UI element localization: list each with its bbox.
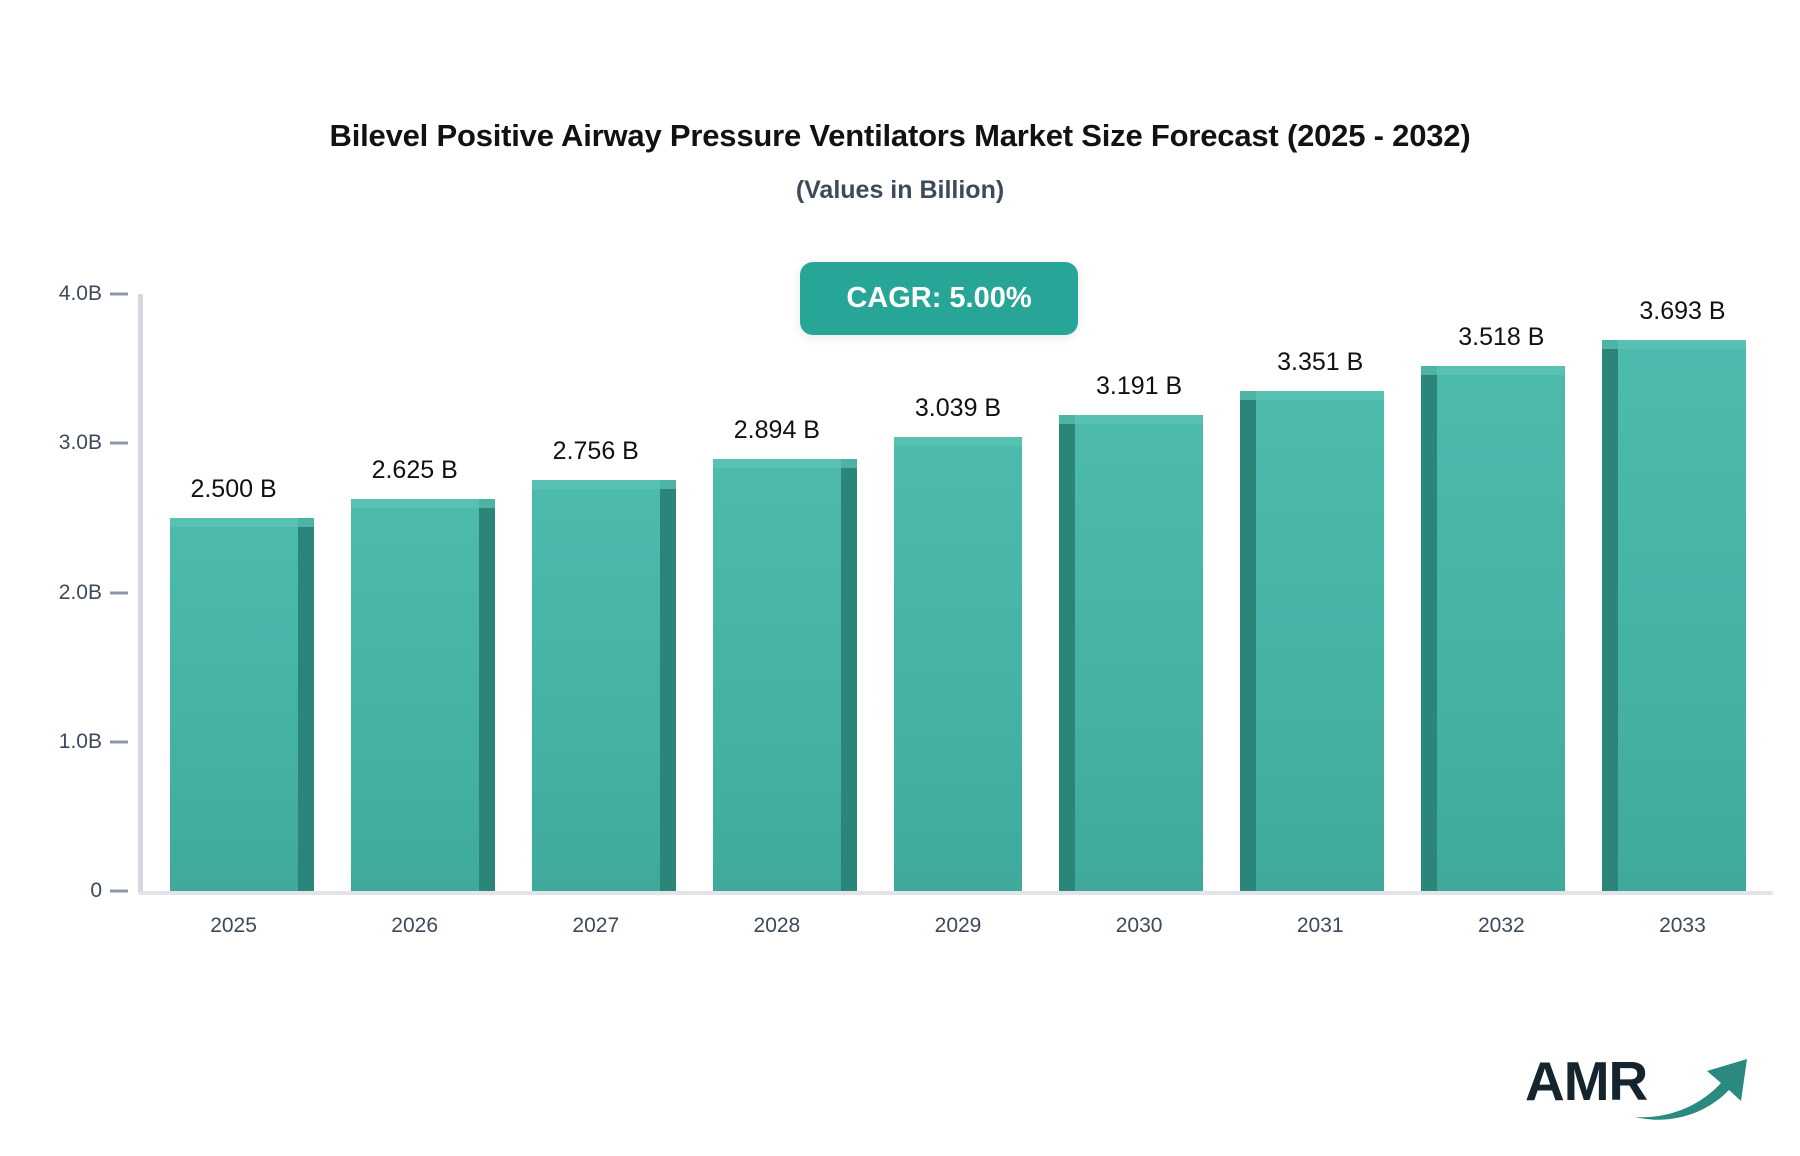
- bar-top-bevel: [1602, 340, 1618, 349]
- amr-logo: AMR: [1525, 1035, 1751, 1128]
- bar-value-label: 2.756 B: [553, 437, 639, 466]
- bar-value-label: 3.351 B: [1277, 348, 1363, 377]
- bar-top-bevel: [479, 499, 495, 508]
- x-tick-label: 2030: [1079, 914, 1199, 938]
- bar-value-label: 2.625 B: [372, 456, 458, 485]
- y-tick-mark: [110, 293, 128, 296]
- x-tick-label: 2025: [174, 914, 294, 938]
- bar-value-label: 2.500 B: [190, 475, 276, 504]
- x-axis-line: [138, 891, 1773, 895]
- logo-text: AMR: [1525, 1054, 1647, 1109]
- bar-top-bevel: [1421, 366, 1437, 375]
- x-tick-label: 2033: [1622, 914, 1742, 938]
- bar-top-bevel: [1240, 391, 1256, 400]
- bar-front-face: [1618, 340, 1746, 891]
- bar-column[interactable]: 3.518 B: [1437, 294, 1565, 891]
- bar-column[interactable]: 2.894 B: [713, 294, 841, 891]
- bar-top-bevel: [660, 480, 676, 489]
- y-tick-mark: [110, 591, 128, 594]
- y-tick-label: 0: [24, 879, 102, 903]
- bar-top-face: [894, 437, 1022, 446]
- bar-top-bevel: [298, 518, 314, 527]
- bar-side-face: [841, 468, 857, 891]
- bar[interactable]: 2.894 B: [713, 294, 841, 891]
- bar[interactable]: 2.756 B: [532, 294, 660, 891]
- y-tick-mark: [110, 740, 128, 743]
- bar-side-face: [1240, 400, 1256, 891]
- chart-title: Bilevel Positive Airway Pressure Ventila…: [0, 118, 1800, 154]
- x-axis-labels: 202520262027202820292030203120322033: [143, 914, 1773, 954]
- x-tick-label: 2027: [536, 914, 656, 938]
- bar-top-face: [1437, 366, 1565, 375]
- bar[interactable]: 2.625 B: [351, 294, 479, 891]
- bar-top-face: [1618, 340, 1746, 349]
- growth-arrow-icon: [1633, 1045, 1751, 1128]
- bar-front-face: [713, 459, 841, 891]
- bar-value-label: 3.693 B: [1639, 297, 1725, 326]
- bar-top-face: [1256, 391, 1384, 400]
- x-tick-label: 2028: [717, 914, 837, 938]
- chart-subtitle: (Values in Billion): [0, 176, 1800, 205]
- bar-front-face: [532, 480, 660, 891]
- bar-value-label: 3.191 B: [1096, 372, 1182, 401]
- x-tick-label: 2026: [355, 914, 475, 938]
- bar-side-face: [298, 527, 314, 891]
- bar-column[interactable]: 3.693 B: [1618, 294, 1746, 891]
- bar-front-face: [351, 499, 479, 891]
- bar[interactable]: 3.191 B: [1075, 294, 1203, 891]
- bar-front-face: [1437, 366, 1565, 891]
- bar-top-face: [351, 499, 479, 508]
- bars-layer: 2.500 B2.625 B2.756 B2.894 B3.039 B3.191…: [143, 294, 1773, 891]
- bar-column[interactable]: 3.039 B: [894, 294, 1022, 891]
- bar-column[interactable]: 2.500 B: [170, 294, 298, 891]
- bar-top-face: [1075, 415, 1203, 424]
- bar-column[interactable]: 2.756 B: [532, 294, 660, 891]
- bar-front-face: [1256, 391, 1384, 891]
- bar[interactable]: 3.039 B: [894, 294, 1022, 891]
- x-tick-label: 2029: [898, 914, 1018, 938]
- y-tick-label: 4.0B: [24, 282, 102, 306]
- x-tick-label: 2032: [1441, 914, 1561, 938]
- bar-front-face: [1075, 415, 1203, 891]
- bar-top-bevel: [1059, 415, 1075, 424]
- x-tick-label: 2031: [1260, 914, 1380, 938]
- chart-canvas: Bilevel Positive Airway Pressure Ventila…: [0, 0, 1800, 1156]
- bar-side-face: [660, 489, 676, 891]
- bar[interactable]: 3.351 B: [1256, 294, 1384, 891]
- bar-top-face: [713, 459, 841, 468]
- bar-top-face: [532, 480, 660, 489]
- bar[interactable]: 3.693 B: [1618, 294, 1746, 891]
- bar-column[interactable]: 3.191 B: [1075, 294, 1203, 891]
- y-tick-label: 1.0B: [24, 730, 102, 754]
- y-tick-label: 2.0B: [24, 581, 102, 605]
- bar-column[interactable]: 3.351 B: [1256, 294, 1384, 891]
- y-tick-mark: [110, 442, 128, 445]
- bar[interactable]: 3.518 B: [1437, 294, 1565, 891]
- bar-front-face: [170, 518, 298, 891]
- bar-column[interactable]: 2.625 B: [351, 294, 479, 891]
- bar-side-face: [1059, 424, 1075, 891]
- bar-side-face: [1421, 375, 1437, 891]
- bar-top-face: [170, 518, 298, 527]
- bar-value-label: 3.039 B: [915, 394, 1001, 423]
- bar-top-bevel: [841, 459, 857, 468]
- bar-value-label: 3.518 B: [1458, 323, 1544, 352]
- bar[interactable]: 2.500 B: [170, 294, 298, 891]
- bar-front-face: [894, 437, 1022, 891]
- bar-side-face: [479, 508, 495, 891]
- bar-value-label: 2.894 B: [734, 416, 820, 445]
- y-tick-mark: [110, 890, 128, 893]
- bar-side-face: [1602, 349, 1618, 891]
- y-tick-label: 3.0B: [24, 431, 102, 455]
